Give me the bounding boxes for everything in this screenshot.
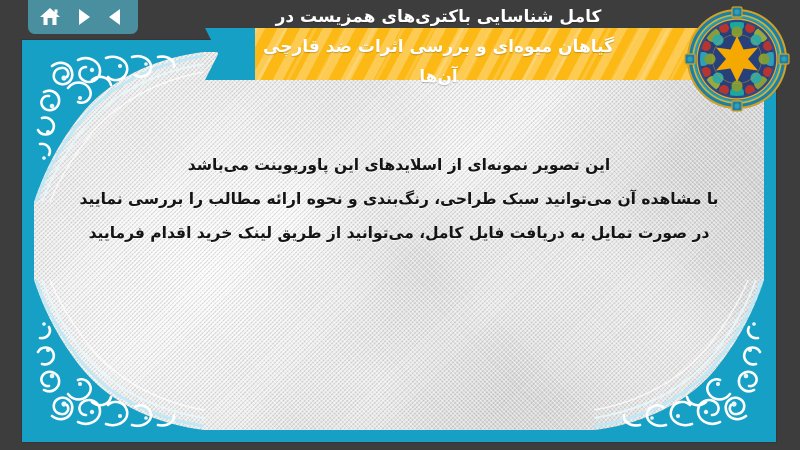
slide-content-area: این تصویر نمونه‌ای از اسلایدهای این پاور… xyxy=(34,52,764,430)
navigation-bar xyxy=(28,0,138,34)
slide-body-text: این تصویر نمونه‌ای از اسلایدهای این پاور… xyxy=(70,148,728,250)
home-button[interactable] xyxy=(37,5,63,29)
home-icon xyxy=(39,7,61,27)
next-slide-button[interactable] xyxy=(70,5,96,29)
triangle-right-icon xyxy=(73,7,93,27)
title-ribbon: کامل شناسایی باکتری‌های همزیست در گیاهان… xyxy=(205,0,708,100)
prev-slide-button[interactable] xyxy=(103,5,129,29)
slide-viewer: این تصویر نمونه‌ای از اسلایدهای این پاور… xyxy=(0,0,800,450)
ornament-corner-bottom-left xyxy=(34,280,204,430)
persian-mandala-medallion-icon xyxy=(684,6,790,112)
slide-frame: این تصویر نمونه‌ای از اسلایدهای این پاور… xyxy=(22,40,776,442)
triangle-left-icon xyxy=(106,7,126,27)
ornament-corner-bottom-right xyxy=(594,280,764,430)
slide-title: کامل شناسایی باکتری‌های همزیست در گیاهان… xyxy=(245,2,632,92)
